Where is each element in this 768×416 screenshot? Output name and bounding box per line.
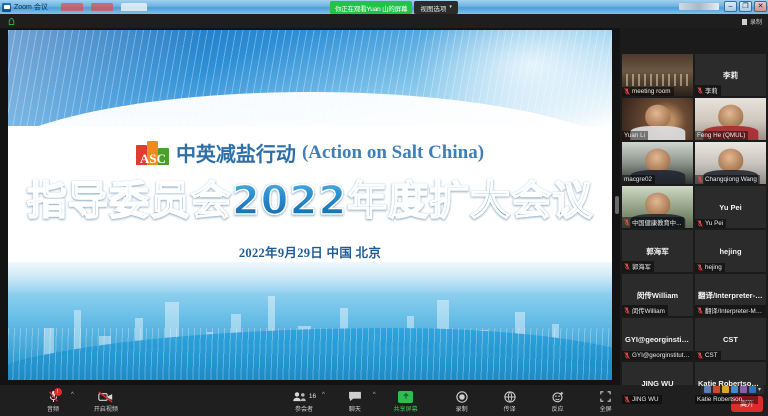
recording-indicator: 录制 [742, 17, 762, 26]
participant-namebar: Changqiong Wang [695, 175, 760, 184]
chat-menu-caret-icon[interactable]: ^ [372, 388, 377, 398]
participant-namebar: Yuan Li [622, 131, 648, 140]
microphone-muted-icon [697, 264, 703, 271]
participant-namebar: hejing [695, 263, 725, 272]
participant-center-name: CST [720, 335, 741, 344]
share-screen-glyph [398, 391, 413, 403]
participant-tile[interactable]: Changqiong Wang [695, 142, 766, 184]
participant-name: Yuan Li [624, 132, 645, 139]
participant-namebar: JING WU [622, 395, 662, 404]
participant-face [645, 149, 671, 172]
microphone-muted-icon [697, 307, 703, 314]
stop-square-icon [742, 19, 747, 25]
participant-center-name: GYI@georginstitute... [622, 335, 693, 344]
recording-label: 录制 [750, 17, 762, 26]
microphone-muted-icon [624, 219, 630, 226]
record-circle-icon [456, 390, 468, 403]
interpretation-button[interactable]: 传译 [493, 388, 527, 413]
participant-namebar: 翻译/Interpreter-Ma... [695, 305, 766, 316]
participant-tile[interactable]: macgre02 [622, 142, 693, 184]
participant-face [645, 193, 671, 216]
participant-face [718, 105, 744, 128]
participant-tile[interactable]: 翻译/Interpreter-Ma...翻译/Interpreter-Ma... [695, 274, 766, 316]
participant-name: macgre02 [624, 176, 652, 183]
participant-tile[interactable]: Yuan Li [622, 98, 693, 140]
microphone-muted-icon [697, 176, 703, 183]
zoom-app-header: 录制 [0, 14, 768, 28]
audio-menu-caret-icon[interactable]: ^ [70, 388, 75, 398]
participant-tile[interactable]: hejinghejing [695, 230, 766, 272]
presentation-slide: ASC 中英减盐行动 (Action on Salt China) 指导委员会2… [8, 30, 612, 380]
participant-tile[interactable]: meeting room [622, 54, 693, 96]
participant-tile[interactable]: Feng He (QMUL) [695, 98, 766, 140]
window-controls: – ❐ ✕ [679, 1, 767, 12]
participant-name: 李莉 [705, 86, 718, 95]
participant-name: 翻译/Interpreter-Ma... [705, 306, 763, 315]
start-video-button[interactable]: 开启视频 [89, 388, 123, 413]
reactions-button[interactable]: 反应 [541, 388, 575, 413]
chevron-down-icon: ▾ [449, 5, 452, 10]
participant-center-name: 闵传William [634, 290, 681, 301]
start-video-label: 开启视频 [94, 404, 118, 413]
participant-namebar: 郭海军 [622, 261, 654, 272]
participants-count: 16 [309, 393, 316, 400]
participant-namebar: GYI@georginstitute... [622, 351, 693, 360]
participant-center-name: 李莉 [720, 70, 741, 81]
zoom-app-icon [2, 3, 11, 12]
participant-namebar: meeting room [622, 87, 674, 96]
participant-tile[interactable]: 中国健康教育中... [622, 186, 693, 228]
slide-title-english: (Action on Salt China) [302, 142, 484, 164]
view-options-dropdown[interactable]: 视图选项 ▾ [414, 1, 458, 14]
reactions-label: 反应 [552, 404, 564, 413]
tab-thumbnail[interactable] [121, 3, 147, 11]
participant-namebar: 李莉 [695, 85, 721, 96]
participant-namebar: macgre02 [622, 175, 655, 184]
participant-tile[interactable]: Yu PeiYu Pei [695, 186, 766, 228]
microphone-muted-icon [697, 220, 703, 227]
participants-label: 参会者 [295, 404, 313, 413]
participant-namebar: CST [695, 351, 721, 360]
participant-face [645, 105, 671, 128]
shared-screen-scrollbar-thumb[interactable] [615, 196, 619, 214]
fullscreen-icon [600, 390, 611, 403]
viewing-screen-indicator: 你正在观看Yuan 山的屏幕 视图选项 ▾ [330, 1, 458, 14]
chat-label: 聊天 [349, 404, 361, 413]
fullscreen-label: 全屏 [600, 404, 612, 413]
minimize-button[interactable]: – [724, 1, 737, 12]
participant-name: Yu Pei [705, 220, 723, 227]
reactions-icon [552, 390, 564, 403]
participant-name: Katie Robertson, DHSC [697, 396, 755, 403]
window-titlebar: Zoom 会议 你正在观看Yuan 山的屏幕 视图选项 ▾ – ❐ ✕ [0, 0, 768, 14]
microphone-muted-icon [624, 307, 630, 314]
audio-alert-badge: ! [54, 388, 62, 396]
participant-name: 郭海军 [632, 262, 651, 271]
participant-name: 闵传William [632, 306, 665, 315]
toolbar-left-group: ! 音频 ^ 开启视频 [36, 388, 123, 413]
participant-name: 中国健康教育中... [632, 218, 681, 227]
viewing-badge: 你正在观看Yuan 山的屏幕 [330, 1, 412, 14]
participant-center-name: hejing [716, 247, 744, 256]
shared-screen-stage[interactable]: ASC 中英减盐行动 (Action on Salt China) 指导委员会2… [0, 28, 620, 385]
participant-name: JING WU [632, 396, 659, 403]
zoom-meeting-window: Zoom 会议 你正在观看Yuan 山的屏幕 视图选项 ▾ – ❐ ✕ [0, 0, 768, 416]
participant-namebar: Yu Pei [695, 219, 726, 228]
slide-dateline: 2022年9月29日 中国 北京 [8, 242, 612, 261]
participant-namebar: 闵传William [622, 305, 668, 316]
titlebar-left: Zoom 会议 [0, 2, 147, 12]
microphone-muted-icon [624, 263, 630, 270]
participant-filmstrip[interactable]: meeting room李莉李莉Yuan LiFeng He (QMUL)mac… [620, 28, 768, 385]
interpretation-label: 传译 [504, 404, 516, 413]
participant-name: Changqiong Wang [705, 176, 757, 183]
microphone-muted-icon [624, 396, 630, 403]
lock-icon [8, 18, 15, 25]
asc-logo-letters: ASC [136, 152, 170, 165]
participant-namebar: 中国健康教育中... [622, 217, 684, 228]
window-title: Zoom 会议 [14, 2, 48, 12]
participant-namebar: Feng He (QMUL) [695, 131, 748, 140]
participant-name: GYI@georginstitute... [632, 352, 690, 359]
fullscreen-button[interactable]: 全屏 [589, 388, 623, 413]
browser-tab-strip [61, 3, 147, 11]
participant-tile[interactable]: GYI@georginstitute...GYI@georginstitute.… [622, 318, 693, 360]
participant-name: Feng He (QMUL) [697, 132, 745, 139]
participant-name: hejing [705, 264, 722, 271]
share-screen-label: 共享屏幕 [394, 404, 418, 413]
participants-menu-caret-icon[interactable]: ^ [321, 388, 326, 398]
mute-audio-label: 音频 [47, 404, 59, 413]
share-screen-icon [398, 390, 413, 403]
toolbar-center-group: 16 参会者 ^ 聊天 ^ 共享屏幕 [287, 388, 623, 413]
participant-tile[interactable]: 李莉李莉 [695, 54, 766, 96]
participant-name: meeting room [632, 88, 671, 95]
participant-tile[interactable]: 郭海军郭海军 [622, 230, 693, 272]
mute-audio-button[interactable]: ! 音频 [36, 388, 70, 413]
participant-face [718, 149, 744, 172]
microphone-muted-icon [624, 88, 630, 95]
chat-bubble-icon [348, 390, 362, 403]
participant-tile[interactable]: CSTCST [695, 318, 766, 360]
participant-tile[interactable]: 闵传William闵传William [622, 274, 693, 316]
titlebar-gradient-strip [679, 3, 719, 10]
tab-thumbnail[interactable] [61, 3, 83, 11]
slide-title-chinese: 中英减盐行动 [176, 138, 296, 167]
microphone-muted-icon [697, 87, 703, 94]
close-button[interactable]: ✕ [754, 1, 767, 12]
participant-tile[interactable]: Katie Robertson, DHSCKatie Robertson, DH… [695, 362, 766, 404]
chat-button[interactable]: 聊天 [338, 388, 372, 413]
globe-icon [504, 390, 516, 403]
participants-button[interactable]: 16 参会者 [287, 388, 321, 413]
participants-icon: 16 [292, 390, 316, 403]
participant-center-name: 郭海军 [643, 246, 672, 257]
slide-headline: 指导委员会2022年度扩大会议 [8, 168, 612, 226]
camera-off-icon [98, 390, 113, 403]
participant-center-name: Katie Robertson, DHSC [695, 379, 766, 388]
participant-name: CST [705, 352, 718, 359]
microphone-muted-icon [697, 352, 703, 359]
microphone-muted-icon [624, 352, 630, 359]
record-button[interactable]: 录制 [445, 388, 479, 413]
participant-namebar: Katie Robertson, DHSC [695, 395, 758, 404]
participant-center-name: JING WU [638, 379, 676, 388]
maximize-button[interactable]: ❐ [739, 1, 752, 12]
asc-logo-icon: ASC [136, 141, 170, 165]
view-options-label: 视图选项 [420, 3, 446, 13]
slide-content: ASC 中英减盐行动 (Action on Salt China) 指导委员会2… [8, 30, 612, 380]
microphone-icon: ! [48, 390, 59, 403]
record-label: 录制 [456, 404, 468, 413]
participant-center-name: 翻译/Interpreter-Ma... [695, 290, 766, 301]
tab-thumbnail[interactable] [91, 3, 113, 11]
participant-center-name: Yu Pei [716, 203, 745, 212]
share-screen-button[interactable]: 共享屏幕 [389, 388, 423, 413]
slide-title-row: ASC 中英减盐行动 (Action on Salt China) [8, 138, 612, 167]
